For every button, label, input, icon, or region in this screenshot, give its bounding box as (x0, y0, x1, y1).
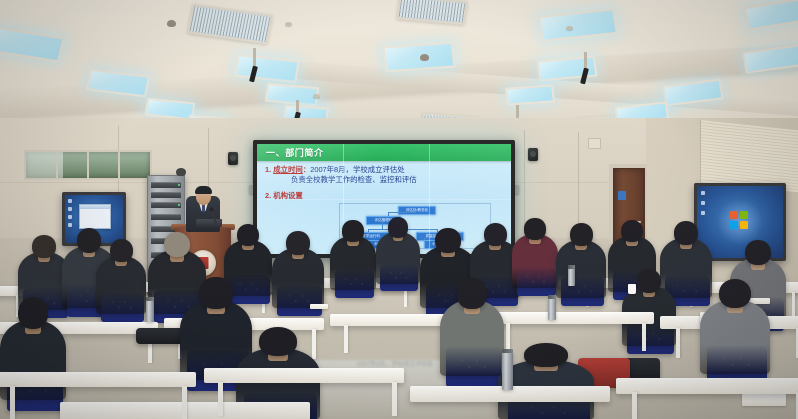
audience-head (77, 228, 102, 253)
desktop-icon (68, 215, 72, 219)
audience-head (259, 327, 298, 356)
wall-speaker (228, 152, 238, 165)
desktop-icon (68, 199, 72, 203)
ac-vent (396, 0, 467, 25)
rack-unit (151, 182, 181, 188)
audience-head (388, 217, 408, 238)
slide-header-text: 一、部门简介 (266, 146, 324, 159)
desktop-icon (68, 223, 72, 227)
audience-head (164, 232, 191, 258)
presenter-hair (195, 186, 212, 194)
paper-cup (628, 284, 636, 294)
audience-head (237, 224, 259, 246)
audience-member (556, 240, 606, 298)
audience-head (32, 235, 56, 258)
thermos-bottle (568, 268, 575, 286)
audience-head (621, 220, 643, 242)
smoke-detector (566, 26, 573, 30)
ceiling-light (505, 84, 555, 105)
audience-head (286, 231, 310, 255)
status-led (178, 204, 180, 206)
dialog-titlebar (80, 205, 110, 209)
window-mullion (56, 152, 58, 178)
window-mullion (118, 152, 120, 178)
audience-head (745, 240, 771, 266)
thermos-bottle (548, 298, 556, 320)
slide-body: 1. 成立时间：2007年8月，学校成立评估处 负责全校教学工作的检查、监控和评… (257, 161, 511, 201)
audience-head (342, 220, 363, 242)
slide-item-1-continued: 负责全校教学工作的检查、监控和评估 (291, 175, 505, 185)
desktop-icon (701, 211, 705, 215)
podium-laptop[interactable] (196, 219, 222, 227)
room-sign-icon (618, 191, 626, 200)
lecture-hall-photo: 一、部门简介 1. 成立时间：2007年8月，学校成立评估处 负责全校教学工作的… (0, 0, 798, 419)
desktop-icon (68, 207, 72, 211)
rack-unit (151, 192, 181, 198)
ceiling-camera (420, 54, 429, 61)
desk (204, 368, 404, 383)
wall-camera (176, 168, 186, 176)
audience-member (330, 236, 376, 290)
org-connector (388, 212, 416, 213)
desk-leg (642, 323, 646, 351)
window-mullion (87, 152, 89, 178)
audience-head (719, 279, 751, 309)
notebook (310, 304, 328, 309)
ceiling-light (744, 0, 798, 31)
audience-head (570, 223, 593, 246)
rack-unit (151, 214, 181, 220)
org-node: 评估处/教务处 (398, 206, 436, 215)
desk-leg (632, 392, 637, 419)
slide-item-1-label: 成立时间 (273, 165, 303, 174)
slide-header: 一、部门简介 (257, 144, 511, 161)
desk-leg (10, 386, 15, 419)
desk-leg (182, 386, 187, 419)
rack-unit (151, 202, 181, 208)
audience-member (272, 248, 324, 308)
audience-member (96, 256, 146, 314)
audience-head (435, 228, 461, 253)
smoke-detector (313, 94, 320, 98)
windows-logo-icon (730, 211, 750, 231)
desk-leg (792, 292, 795, 316)
status-led (178, 184, 180, 186)
wall-mounted-box (588, 138, 601, 149)
audience-member (440, 300, 504, 376)
window-blinds (700, 120, 798, 192)
desktop-icon (701, 201, 705, 205)
thermos-bottle (502, 352, 513, 390)
ceiling-light (538, 8, 618, 42)
desk-leg (676, 328, 680, 358)
audience-head (674, 221, 698, 245)
ceiling-light (265, 83, 320, 106)
notebook (742, 394, 786, 406)
desk-leg (218, 382, 223, 416)
desk-leg (506, 323, 510, 351)
audience-head (199, 277, 232, 309)
ceiling-camera (167, 20, 176, 27)
audience-head (524, 218, 545, 240)
audience-head (637, 269, 662, 293)
smoke-detector (285, 22, 292, 26)
audience-head (484, 223, 507, 246)
desk-leg (344, 325, 348, 353)
video-wall-seam (257, 199, 511, 200)
thermos-bottle (146, 300, 154, 322)
audience-head (110, 239, 133, 262)
desk-leg (392, 382, 397, 416)
upper-window (24, 150, 152, 180)
desk (616, 378, 798, 394)
slide-item-1-number: 1. (265, 165, 271, 174)
wall-speaker (528, 148, 538, 161)
audience-head (524, 343, 568, 367)
ceiling-light (0, 25, 65, 62)
ac-vent (187, 4, 273, 44)
audience-member (700, 300, 770, 374)
desk (0, 372, 196, 387)
audience-member (376, 232, 420, 284)
ceiling-light (382, 42, 455, 73)
audience-head (457, 278, 486, 308)
dialog-window[interactable] (79, 204, 111, 229)
desk (492, 312, 654, 324)
audience-member (512, 234, 558, 288)
slide-item-1: 1. 成立时间：2007年8月，学校成立评估处 (265, 165, 505, 175)
desktop-icon (701, 191, 705, 195)
audience-head (18, 297, 48, 329)
slide-item-1-text: 2007年8月，学校成立评估处 (310, 165, 404, 174)
